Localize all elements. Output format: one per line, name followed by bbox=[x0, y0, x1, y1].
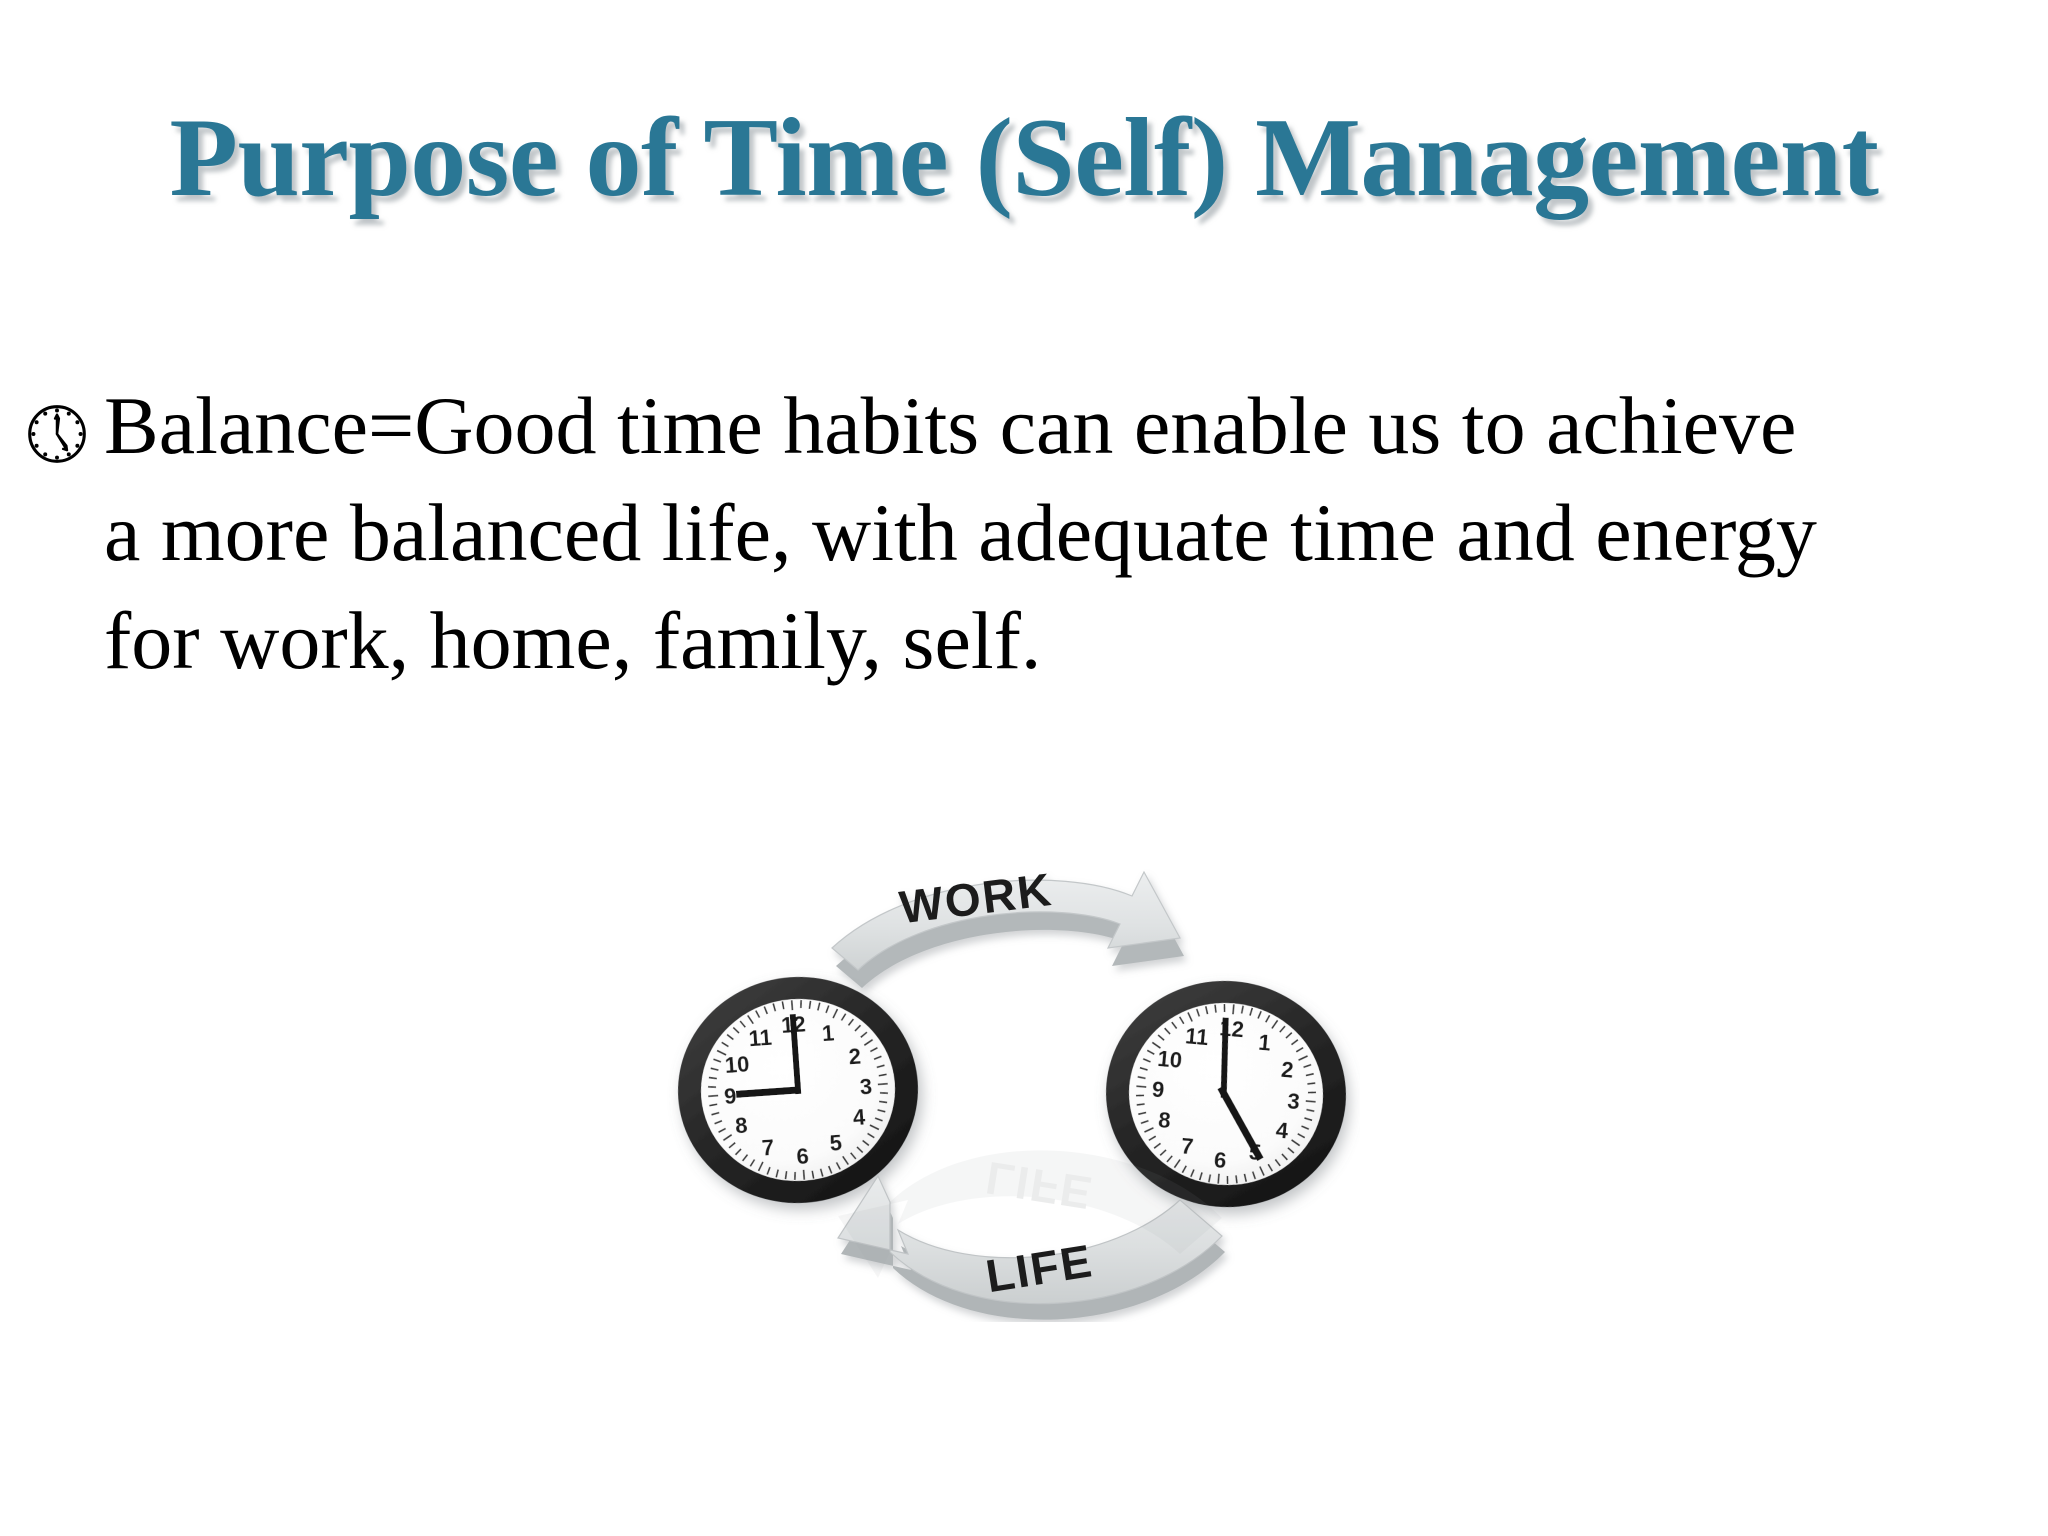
svg-text:7: 7 bbox=[761, 1135, 775, 1161]
svg-text:9: 9 bbox=[723, 1083, 737, 1109]
svg-text:9: 9 bbox=[1151, 1077, 1165, 1103]
svg-text:3: 3 bbox=[859, 1074, 873, 1100]
clock-left: 12 1 2 3 4 5 6 7 8 9 10 11 bbox=[670, 969, 925, 1211]
svg-text:11: 11 bbox=[748, 1025, 773, 1052]
svg-text:7: 7 bbox=[1180, 1133, 1194, 1159]
svg-text:1: 1 bbox=[821, 1020, 835, 1046]
svg-text:11: 11 bbox=[1184, 1023, 1209, 1050]
svg-text:10: 10 bbox=[1157, 1046, 1184, 1073]
bullet-list-item: Balance=Good time habits can enable us t… bbox=[26, 372, 1826, 694]
body-content: Balance=Good time habits can enable us t… bbox=[26, 372, 1826, 694]
svg-text:8: 8 bbox=[734, 1113, 748, 1139]
svg-text:3: 3 bbox=[1286, 1088, 1300, 1114]
clock-bullet-icon bbox=[26, 384, 88, 446]
work-life-balance-graphic: WORK bbox=[660, 852, 1360, 1322]
svg-text:6: 6 bbox=[1213, 1147, 1227, 1173]
slide-canvas: Purpose of Time (Self) Management bbox=[0, 0, 2048, 1536]
clock-right: 12 1 2 3 4 5 6 7 8 9 10 11 bbox=[1097, 971, 1356, 1217]
page-title: Purpose of Time (Self) Management bbox=[0, 96, 2048, 221]
work-arrow: WORK bbox=[832, 863, 1184, 988]
svg-text:6: 6 bbox=[796, 1143, 810, 1169]
svg-text:5: 5 bbox=[829, 1130, 843, 1156]
bullet-text: Balance=Good time habits can enable us t… bbox=[104, 380, 1817, 686]
svg-text:2: 2 bbox=[848, 1044, 862, 1070]
svg-text:10: 10 bbox=[724, 1051, 750, 1078]
svg-text:8: 8 bbox=[1157, 1107, 1171, 1133]
svg-text:2: 2 bbox=[1280, 1057, 1294, 1083]
svg-text:1: 1 bbox=[1257, 1030, 1271, 1056]
life-arrow: LIFE bbox=[838, 1176, 1225, 1320]
